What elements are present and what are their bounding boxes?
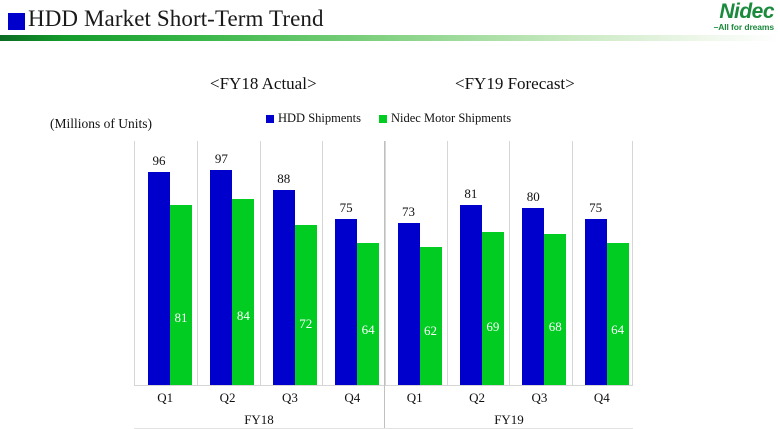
bar-value-label-nidec: 69 — [482, 319, 504, 335]
legend-swatch-icon-nidec — [379, 115, 387, 123]
x-axis-group-label-fy19: FY19 — [384, 412, 634, 428]
x-axis-tick-fy19-q4: Q4 — [571, 390, 633, 406]
bar-value-label-nidec: 68 — [544, 319, 566, 335]
bar-value-label-hdd: 88 — [267, 171, 301, 187]
header-gradient-rule — [0, 35, 780, 41]
bar-nidec-motor-shipments — [170, 205, 192, 385]
legend-item-hdd-shipments: HDD Shipments — [266, 111, 361, 126]
x-axis-tick-fy18-q3: Q3 — [259, 390, 321, 406]
bar-nidec-motor-shipments — [482, 232, 504, 385]
x-axis-tick-fy18-q2: Q2 — [196, 390, 258, 406]
bar-group-fy19-q1: 7362 — [384, 141, 446, 385]
legend-swatch-icon-hdd — [266, 115, 274, 123]
bar-hdd-shipments — [460, 205, 482, 385]
bar-hdd-shipments — [522, 208, 544, 385]
chart-legend: HDD Shipments Nidec Motor Shipments — [266, 111, 511, 126]
x-axis-tick-fy19-q1: Q1 — [384, 390, 446, 406]
bar-group-fy18-q1: 9681 — [134, 141, 196, 385]
logo-wordmark: Nidec — [682, 2, 774, 22]
period-heading-fy19: <FY19 Forecast> — [455, 74, 575, 94]
x-axis-group-label-fy18: FY18 — [134, 412, 384, 428]
bar-value-label-nidec: 62 — [420, 323, 442, 339]
title-bullet-square-icon — [8, 13, 25, 30]
bar-hdd-shipments — [398, 223, 420, 385]
bar-value-label-nidec: 64 — [607, 322, 629, 338]
legend-item-nidec-motor-shipments: Nidec Motor Shipments — [379, 111, 511, 126]
bar-value-label-hdd: 73 — [392, 204, 426, 220]
x-axis-tick-fy18-q1: Q1 — [134, 390, 196, 406]
bar-group-fy19-q2: 8169 — [446, 141, 508, 385]
bar-nidec-motor-shipments — [420, 247, 442, 385]
bar-nidec-motor-shipments — [544, 234, 566, 385]
x-axis-tick-fy19-q2: Q2 — [446, 390, 508, 406]
bar-value-label-hdd: 81 — [454, 186, 488, 202]
x-axis-tick-fy18-q4: Q4 — [321, 390, 383, 406]
period-heading-fy18: <FY18 Actual> — [210, 74, 317, 94]
bar-nidec-motor-shipments — [295, 225, 317, 385]
page-header: HDD Market Short-Term Trend — [0, 0, 780, 44]
bar-group-fy18-q2: 9784 — [196, 141, 258, 385]
bar-hdd-shipments — [273, 190, 295, 385]
bar-value-label-hdd: 97 — [204, 151, 238, 167]
bar-value-label-nidec: 81 — [170, 310, 192, 326]
axis-unit-label: (Millions of Units) — [50, 116, 152, 132]
bar-group-fy19-q4: 7564 — [571, 141, 633, 385]
legend-label-nidec: Nidec Motor Shipments — [391, 111, 511, 126]
bar-hdd-shipments — [585, 219, 607, 385]
nidec-logo: Nidec –All for dreams — [682, 2, 774, 32]
bar-value-label-hdd: 75 — [329, 200, 363, 216]
bar-hdd-shipments — [210, 170, 232, 385]
bar-value-label-nidec: 84 — [232, 308, 254, 324]
legend-label-hdd: HDD Shipments — [278, 111, 361, 126]
bar-nidec-motor-shipments — [357, 243, 379, 385]
bar-value-label-nidec: 64 — [357, 322, 379, 338]
bar-chart: 96819784887275647362816980687564 — [134, 141, 633, 385]
bar-group-fy19-q3: 8068 — [508, 141, 570, 385]
x-axis-tick-fy19-q3: Q3 — [508, 390, 570, 406]
logo-tagline: –All for dreams — [682, 22, 774, 33]
page-title: HDD Market Short-Term Trend — [28, 6, 324, 32]
bar-nidec-motor-shipments — [232, 199, 254, 385]
bar-group-fy18-q4: 7564 — [321, 141, 383, 385]
bar-hdd-shipments — [335, 219, 357, 385]
bar-value-label-hdd: 80 — [516, 189, 550, 205]
bar-group-fy18-q3: 8872 — [259, 141, 321, 385]
bar-hdd-shipments — [148, 172, 170, 385]
x-axis-labels: FY18 FY19 Q1Q2Q3Q4Q1Q2Q3Q4 — [134, 386, 633, 429]
bar-value-label-hdd: 96 — [142, 153, 176, 169]
bar-value-label-nidec: 72 — [295, 316, 317, 332]
bar-value-label-hdd: 75 — [579, 200, 613, 216]
bar-nidec-motor-shipments — [607, 243, 629, 385]
